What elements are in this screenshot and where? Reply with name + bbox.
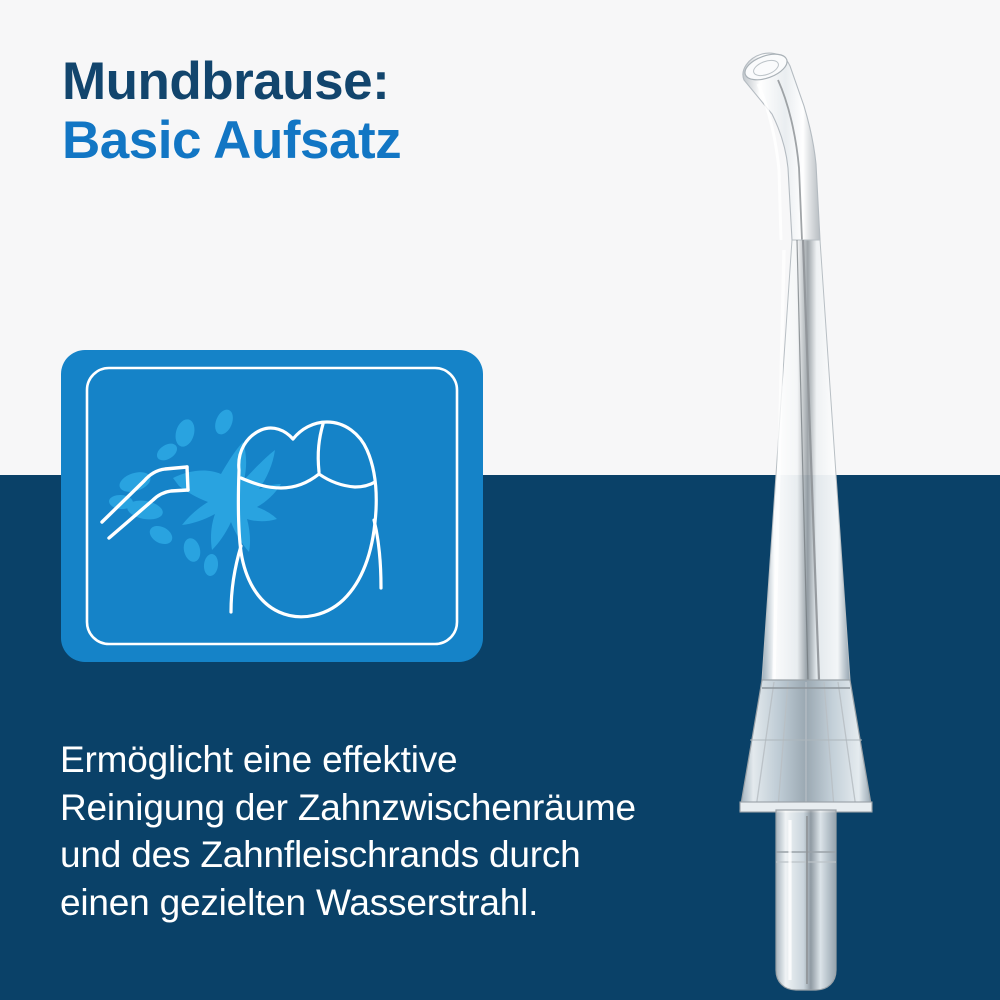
feature-description-line-4: einen gezielten Wasserstrahl. <box>60 879 780 927</box>
page-title: Mundbrause: Basic Aufsatz <box>62 52 682 171</box>
page-title-line-2: Basic Aufsatz <box>62 111 682 170</box>
feature-description: Ermöglicht eine effektive Reinigung der … <box>60 736 780 927</box>
splash-droplet <box>212 407 237 437</box>
splash-droplet <box>147 522 176 547</box>
feature-description-line-2: Reinigung der Zahnzwischenräume <box>60 784 780 832</box>
feature-description-line-3: und des Zahnfleischrands durch <box>60 831 780 879</box>
product-feature-graphic: Mundbrause: Basic Aufsatz <box>0 0 1000 1000</box>
feature-icon-card <box>61 350 483 662</box>
splash-droplet <box>181 536 202 563</box>
splash-droplet <box>154 440 180 464</box>
splash-droplet <box>203 553 219 576</box>
feature-description-line-1: Ermöglicht eine effektive <box>60 736 780 784</box>
page-title-line-1: Mundbrause: <box>62 52 682 111</box>
splash-droplet <box>172 417 197 449</box>
